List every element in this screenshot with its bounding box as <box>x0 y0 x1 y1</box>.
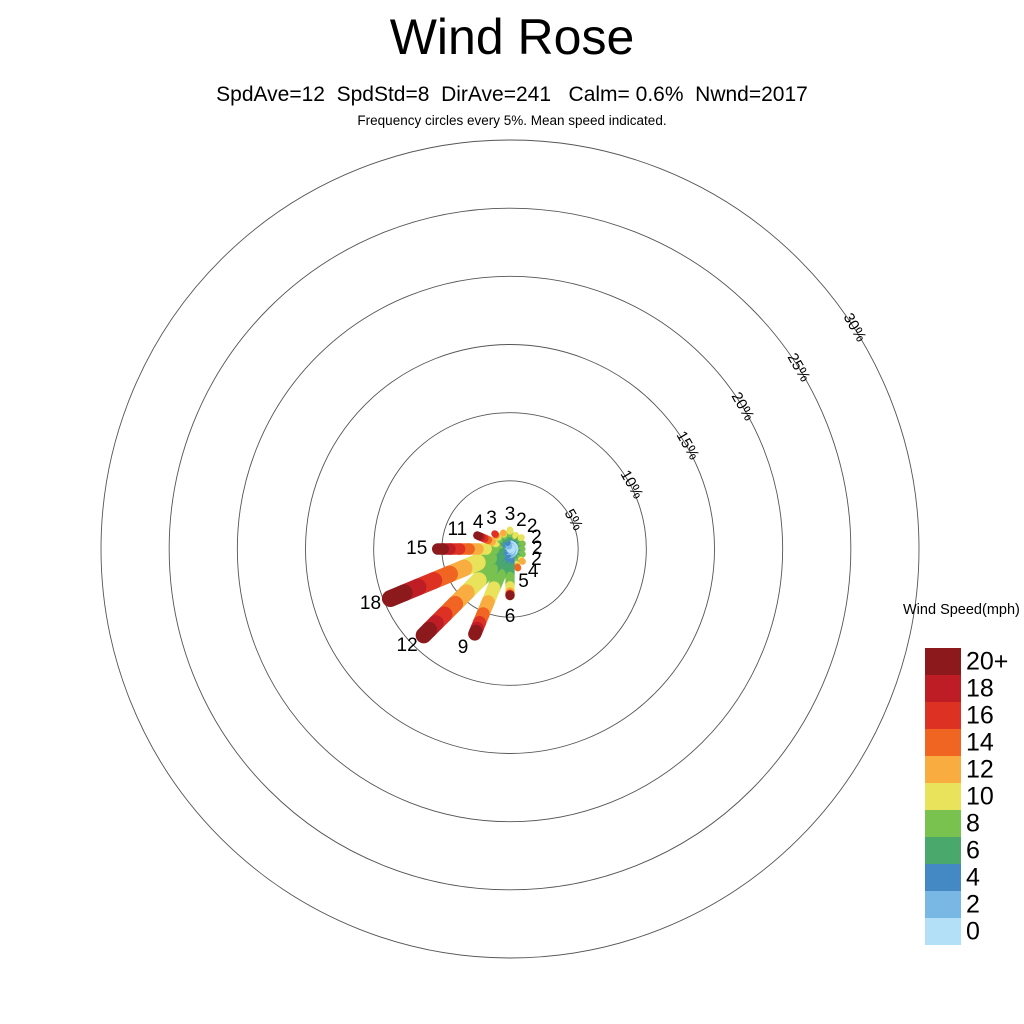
legend-label-0: 0 <box>966 917 980 946</box>
petal-segment <box>477 535 479 536</box>
legend-title: Wind Speed(mph) <box>903 602 1020 618</box>
legend-swatches <box>925 648 961 945</box>
legend-label-18: 18 <box>966 674 994 703</box>
legend-label-20+: 20+ <box>966 647 1008 676</box>
petal-label-WNW: 11 <box>448 519 468 541</box>
petal-label-W: 15 <box>406 538 427 560</box>
legend-label-14: 14 <box>966 728 994 757</box>
legend-swatch-2[interactable] <box>925 891 961 918</box>
petal-label-N: 3 <box>505 504 516 526</box>
petal-segment <box>424 630 429 635</box>
legend-label-8: 8 <box>966 809 980 838</box>
petal-label-SW: 12 <box>397 635 418 657</box>
petal-segment <box>521 554 522 555</box>
legend-label-12: 12 <box>966 755 994 784</box>
petal-label-SE: 4 <box>528 561 539 583</box>
petal-label-SSE: 5 <box>518 571 529 593</box>
legend-swatch-6[interactable] <box>925 837 961 864</box>
petal-label-WSW: 18 <box>360 593 381 615</box>
legend-swatch-8[interactable] <box>925 810 961 837</box>
legend-label-4: 4 <box>966 863 980 892</box>
legend-swatch-0[interactable] <box>925 918 961 945</box>
legend-label-16: 16 <box>966 701 994 730</box>
petal-label-S: 6 <box>505 606 516 628</box>
legend-swatch-18[interactable] <box>925 675 961 702</box>
legend-swatch-12[interactable] <box>925 756 961 783</box>
legend-label-6: 6 <box>966 836 980 865</box>
legend-label-2: 2 <box>966 890 980 919</box>
petal-label-NNW: 3 <box>486 508 497 530</box>
legend-label-10: 10 <box>966 782 994 811</box>
petal-label-NNE: 2 <box>516 510 527 532</box>
wind-rose-page: Wind Rose SpdAve=12 SpdStd=8 DirAve=241 … <box>0 0 1024 1024</box>
petal-label-NW: 4 <box>473 512 484 534</box>
petal-segment <box>475 632 476 635</box>
legend-swatch-14[interactable] <box>925 729 961 756</box>
legend-swatch-20+[interactable] <box>925 648 961 675</box>
legend-swatch-10[interactable] <box>925 783 961 810</box>
petal-segment <box>390 593 404 599</box>
legend-swatch-4[interactable] <box>925 864 961 891</box>
legend-swatch-16[interactable] <box>925 702 961 729</box>
petal-label-SSW: 9 <box>458 637 469 659</box>
